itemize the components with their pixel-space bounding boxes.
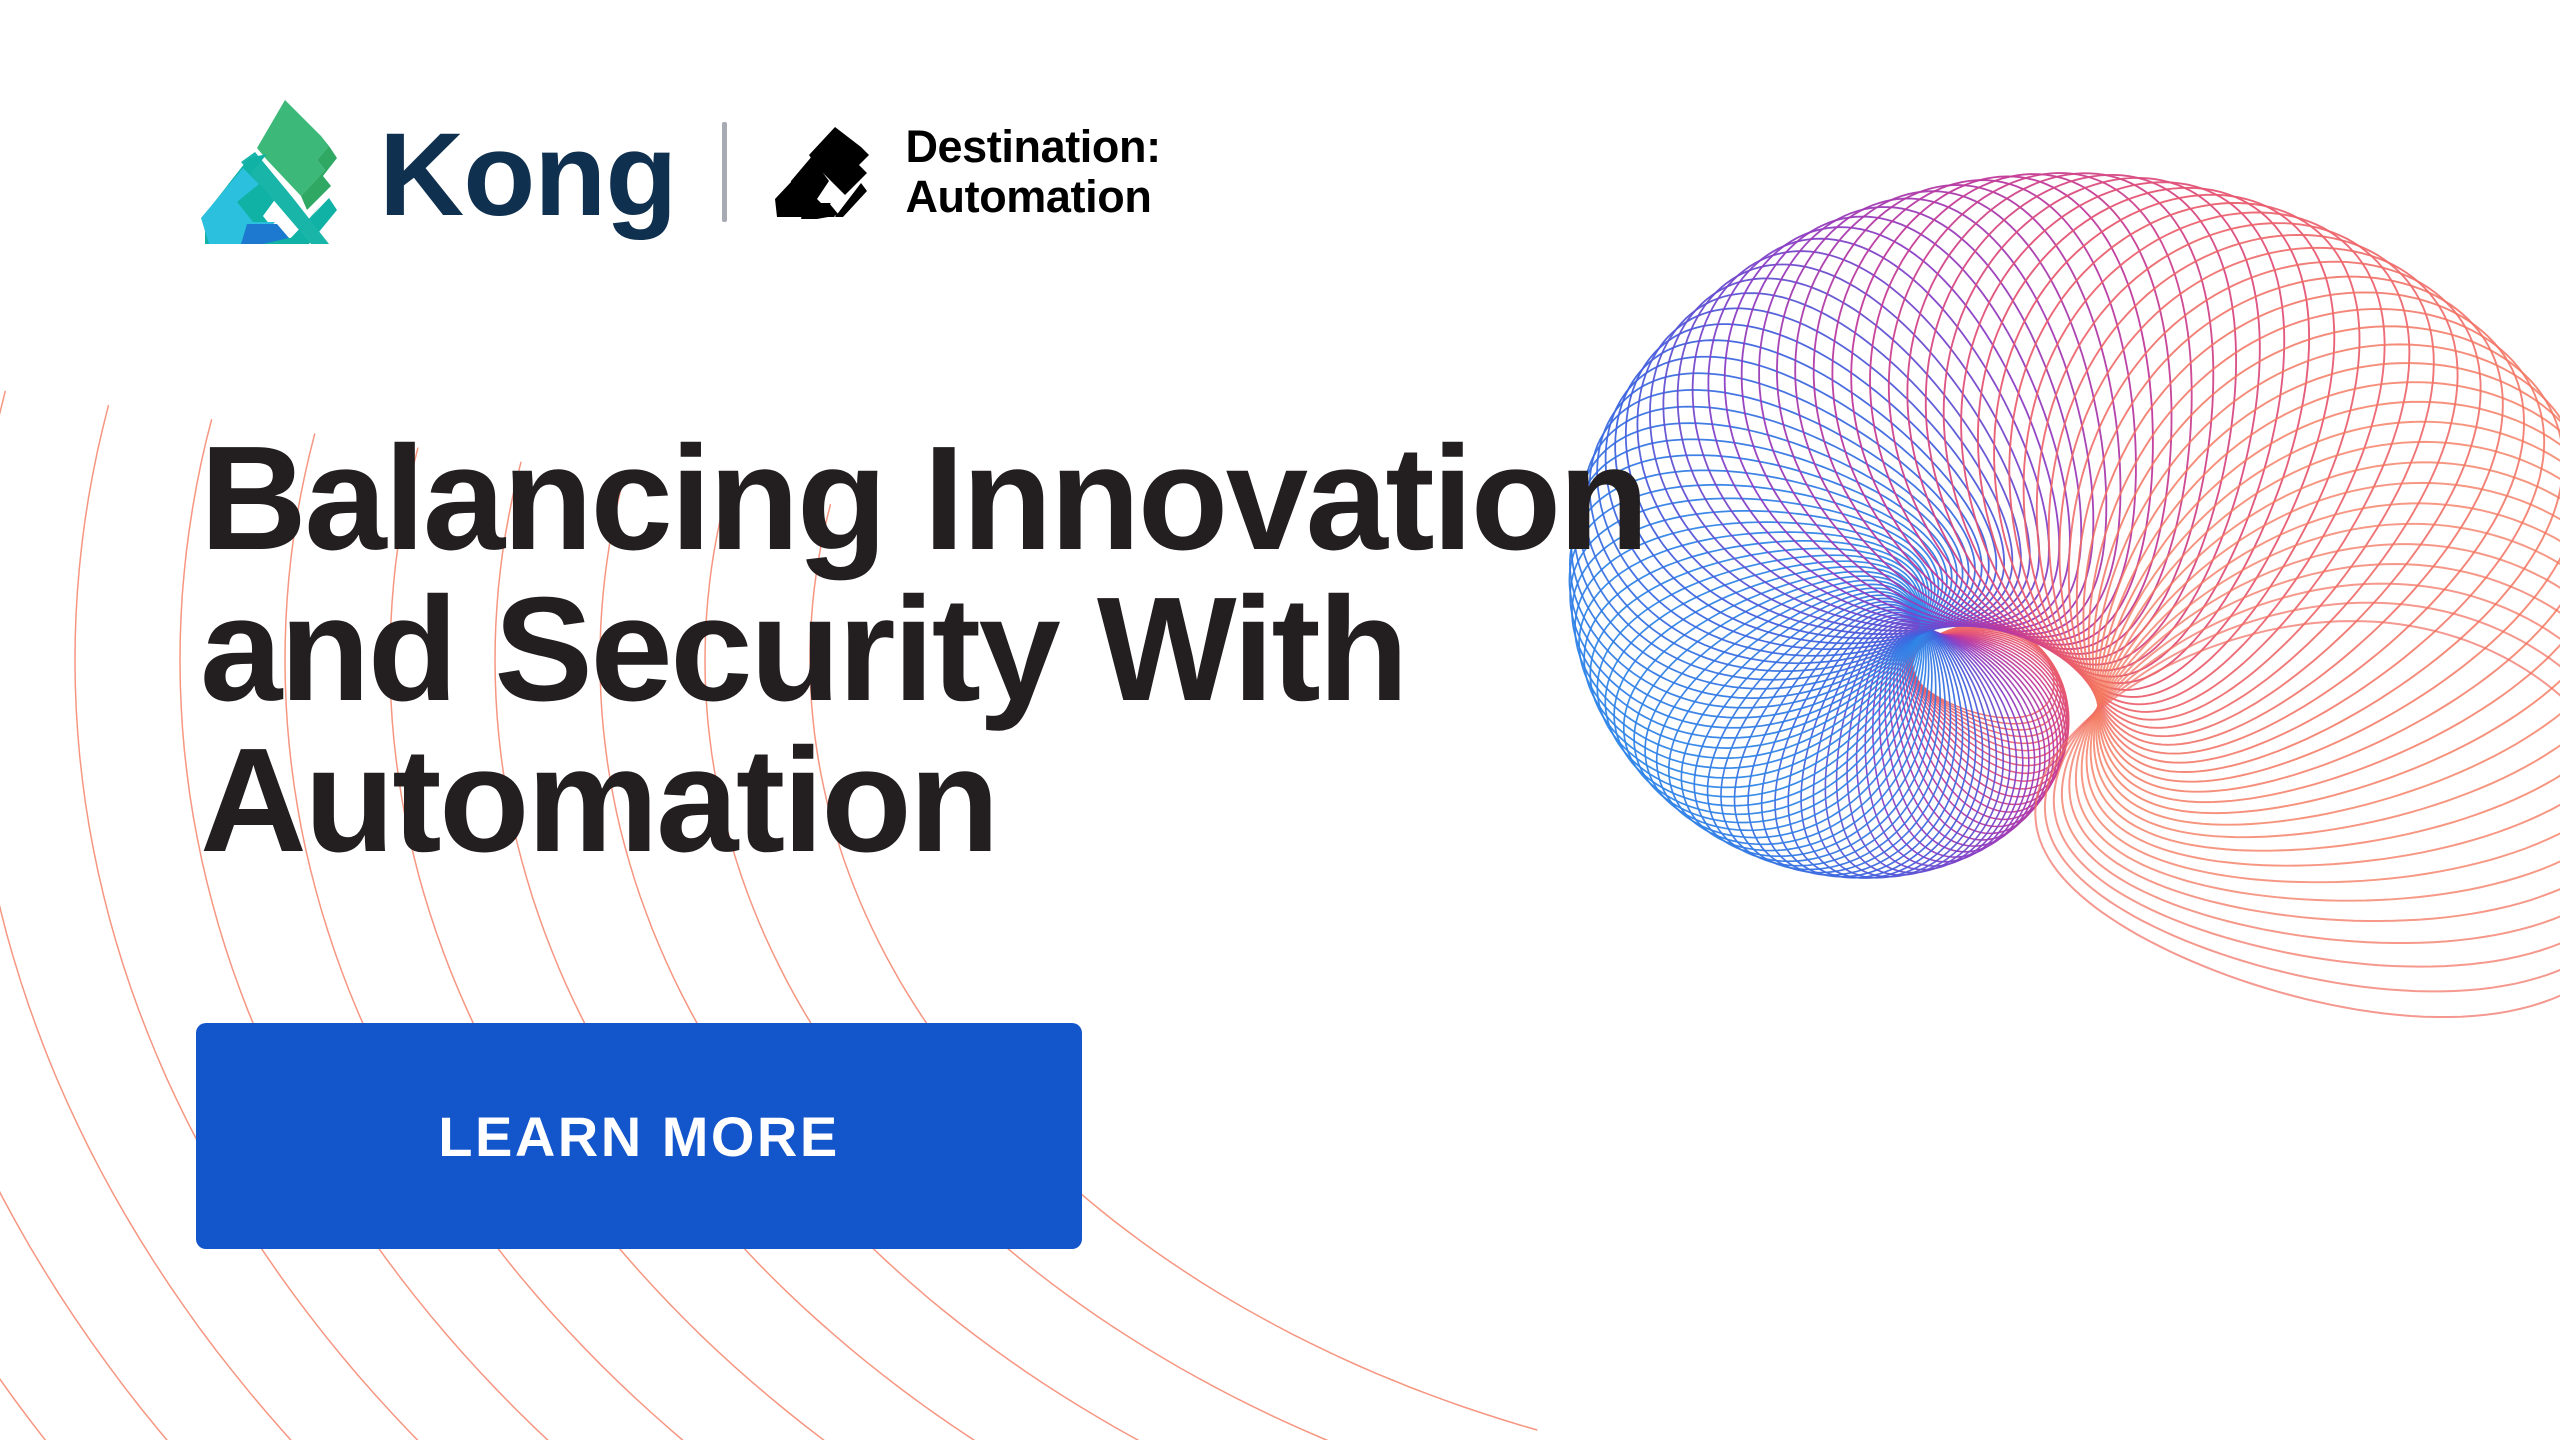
headline-line-3: Automation — [200, 726, 1900, 877]
headline-line-1: Balancing Innovation — [200, 424, 1900, 575]
promo-banner: Kong Destination: Automation Balancing I… — [0, 0, 2560, 1440]
destination-automation-text: Destination: Automation — [905, 122, 1160, 223]
destination-automation-gorilla-icon — [773, 125, 881, 219]
kong-wordmark: Kong — [379, 125, 676, 226]
partner-line-2: Automation — [905, 172, 1160, 222]
logo-lockup[interactable]: Kong Destination: Automation — [197, 92, 1161, 252]
learn-more-button[interactable]: LEARN MORE — [196, 1023, 1082, 1249]
lockup-divider — [722, 122, 727, 222]
partner-line-1: Destination: — [905, 122, 1160, 172]
headline-line-2: and Security With — [200, 575, 1900, 726]
kong-gorilla-logo-icon — [197, 98, 349, 246]
page-title: Balancing Innovation and Security With A… — [200, 424, 1900, 877]
